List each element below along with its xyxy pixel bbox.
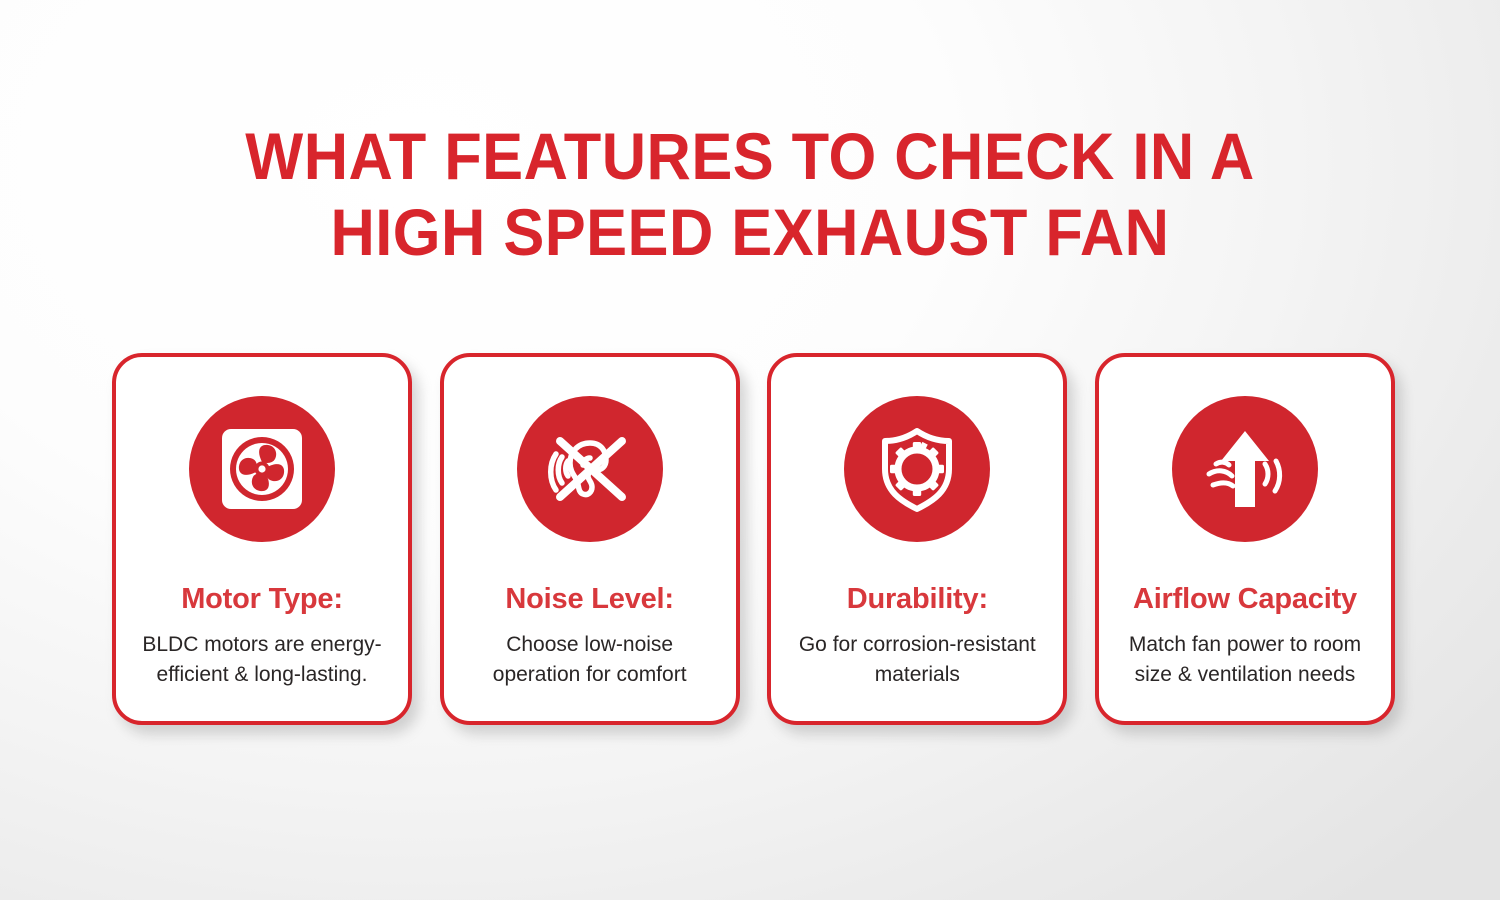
card-heading: Durability:: [847, 582, 988, 616]
card-body-text: Choose low-noise operation for comfort: [444, 630, 736, 690]
feature-card-noise-level[interactable]: Noise Level: Choose low-noise operation …: [440, 353, 740, 725]
card-heading: Motor Type:: [181, 582, 343, 616]
card-body-text: Go for corrosion-resistant materials: [771, 630, 1063, 690]
exhaust-fan-icon: [189, 396, 335, 542]
feature-card-airflow-capacity[interactable]: Airflow Capacity Match fan power to room…: [1095, 353, 1395, 725]
card-heading: Noise Level:: [505, 582, 673, 616]
card-body-text: Match fan power to room size & ventilati…: [1099, 630, 1391, 690]
infographic-poster: WHAT FEATURES TO CHECK IN A HIGH SPEED E…: [0, 0, 1500, 900]
airflow-arrow-icon: [1172, 396, 1318, 542]
page-title: WHAT FEATURES TO CHECK IN A HIGH SPEED E…: [0, 118, 1500, 270]
feature-card-row: Motor Type: BLDC motors are energy-effic…: [112, 353, 1395, 725]
card-heading: Airflow Capacity: [1133, 582, 1357, 616]
feature-card-motor-type[interactable]: Motor Type: BLDC motors are energy-effic…: [112, 353, 412, 725]
feature-card-durability[interactable]: Durability: Go for corrosion-resistant m…: [767, 353, 1067, 725]
card-body-text: BLDC motors are energy-efficient & long-…: [116, 630, 408, 690]
title-line-2: HIGH SPEED EXHAUST FAN: [53, 194, 1448, 270]
shield-gear-icon: [844, 396, 990, 542]
title-line-1: WHAT FEATURES TO CHECK IN A: [53, 118, 1448, 194]
no-noise-icon: [517, 396, 663, 542]
